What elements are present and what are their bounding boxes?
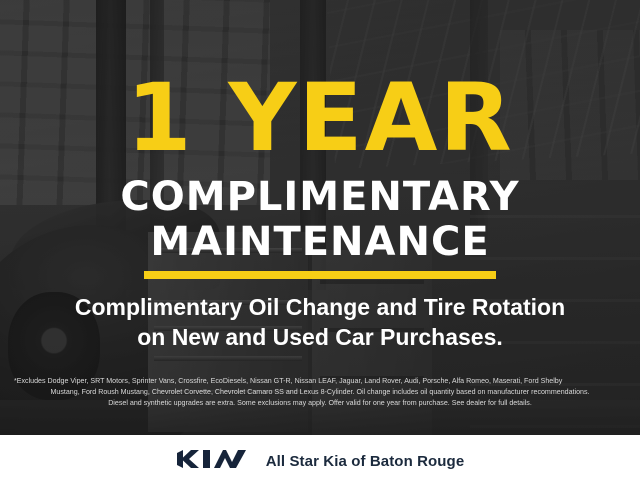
disclaimer-line-1: *Excludes Dodge Viper, SRT Motors, Sprin… bbox=[14, 376, 626, 387]
footer-bar: All Star Kia of Baton Rouge bbox=[0, 435, 640, 488]
disclaimer-line-2: Mustang, Ford Roush Mustang, Chevrolet C… bbox=[14, 387, 626, 398]
ad-content: 1 YEAR COMPLIMENTARY MAINTENANCE Complim… bbox=[0, 0, 640, 488]
headline-year: 1 YEAR bbox=[0, 72, 640, 166]
disclaimer-line-3: Diesel and synthetic upgrades are extra.… bbox=[14, 398, 626, 409]
kia-logo-icon bbox=[176, 448, 246, 475]
dealer-name: All Star Kia of Baton Rouge bbox=[266, 453, 465, 470]
yellow-divider-bar bbox=[144, 271, 496, 279]
headline-maintenance: MAINTENANCE bbox=[0, 222, 640, 262]
tagline: Complimentary Oil Change and Tire Rotati… bbox=[0, 292, 640, 352]
tagline-line-1: Complimentary Oil Change and Tire Rotati… bbox=[75, 294, 565, 320]
tagline-line-2: on New and Used Car Purchases. bbox=[0, 322, 640, 352]
headline-complimentary: COMPLIMENTARY bbox=[0, 177, 640, 217]
advertisement-banner: 1 YEAR COMPLIMENTARY MAINTENANCE Complim… bbox=[0, 0, 640, 488]
disclaimer-fine-print: *Excludes Dodge Viper, SRT Motors, Sprin… bbox=[14, 376, 626, 408]
